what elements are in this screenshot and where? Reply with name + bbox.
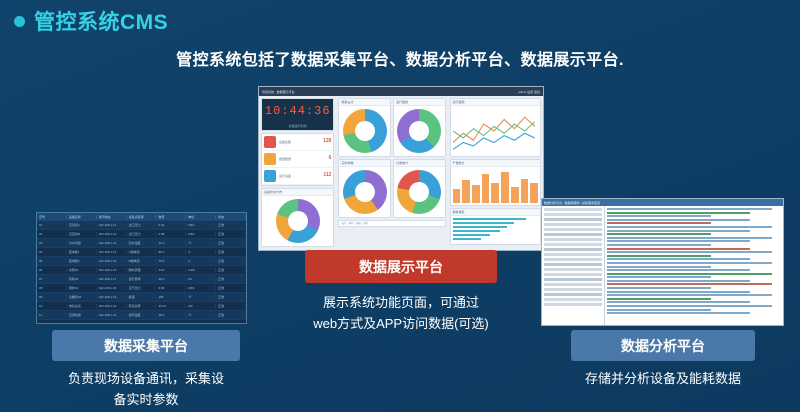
cell: A — [186, 259, 216, 263]
collect-caption-line2: 备实时参数 — [38, 389, 254, 410]
kpi-item: 设备总数 128 — [262, 134, 333, 151]
cell: 192.168.1.18 — [97, 286, 127, 290]
donut-row-2: 实时参数 分类统计 — [338, 159, 445, 220]
cell: 正常 — [216, 277, 246, 281]
donut-card-1: 设备状态分布 — [261, 188, 334, 247]
dashboard-titlebar-right: admin 设置 退出 — [518, 90, 540, 94]
table-row: 03 冷水机组 192.168.1.13 回水温度 12.4 ℃ 正常 — [37, 239, 246, 248]
cell: 01 — [37, 223, 67, 227]
cell: 正常 — [216, 286, 246, 290]
window-titlebar: 数据分析平台 - 数据库服务 / 采集服务配置 — [542, 199, 783, 206]
kpi-item: 运行设备 112 — [262, 168, 333, 185]
cell: 有功功率 — [127, 304, 157, 308]
cell: 空压机A — [67, 223, 97, 227]
cell: 正常 — [216, 268, 246, 272]
cell: 312.6 — [156, 304, 186, 308]
donut-card-3: 运行趋势 — [393, 98, 446, 157]
cell: 07 — [37, 277, 67, 281]
cell: B相电流 — [127, 259, 157, 263]
table-row: 09 注塑机03 192.168.1.19 模温 185 ℃ 正常 — [37, 293, 246, 302]
cell: 192.168.1.12 — [97, 232, 127, 236]
cell: 空压机B — [67, 232, 97, 236]
cell: 02 — [37, 232, 67, 236]
cell: ℃ — [186, 313, 216, 317]
column-header: 设备名称 — [67, 215, 97, 219]
cell: 192.168.1.17 — [97, 277, 127, 281]
cell: 出口压力 — [127, 223, 157, 227]
cell: 06 — [37, 268, 67, 272]
cell: 05 — [37, 259, 67, 263]
cell: 192.168.1.14 — [97, 250, 127, 254]
dashboard-screenshot: 管控系统 · 数据展示平台 admin 设置 退出 10:44:36 系统运行时… — [258, 86, 544, 251]
analyse-platform-label[interactable]: 数据分析平台 — [571, 330, 755, 361]
slide: 管控系统CMS 管控系统包括了数据采集平台、数据分析平台、数据展示平台. 管控系… — [0, 0, 800, 412]
cell: A相电流 — [127, 250, 157, 254]
kpi-value: 128 — [323, 138, 331, 146]
bar-chart — [451, 167, 540, 205]
table-row: 04 配电柜1 192.168.1.14 A相电流 86.2 A 正常 — [37, 248, 246, 257]
code-panel — [605, 206, 783, 326]
kpi-label: 设备总数 — [279, 140, 291, 145]
cell: MPa — [186, 232, 216, 236]
cell: 09 — [37, 295, 67, 299]
dashboard-body: 10:44:36 系统运行时间 设备总数 128 报警数量 6 — [259, 96, 543, 251]
cell: 空调机组 — [67, 313, 97, 317]
table-row: 07 风机02 192.168.1.17 运行频率 45.0 Hz 正常 — [37, 275, 246, 284]
cell: 192.168.1.13 — [97, 241, 127, 245]
donut-card-5: 分类统计 — [393, 159, 446, 218]
collect-caption-line1: 负责现场设备通讯，采集设 — [38, 368, 254, 389]
kpi-card: 设备总数 128 报警数量 6 运行设备 112 — [261, 133, 334, 186]
kpi-label: 运行设备 — [279, 174, 291, 179]
line-chart — [451, 106, 540, 156]
donut-chart — [276, 199, 320, 243]
donut-row: 能耗占比 运行趋势 — [338, 98, 445, 159]
dashboard-col-middle: 能耗占比 运行趋势 实时参数 分类统计 — [336, 96, 447, 251]
cell: 192.168.1.19 — [97, 295, 127, 299]
cell: 0.58 — [156, 232, 186, 236]
bar-chart-card: 产量统计 — [450, 159, 541, 206]
cell: A — [186, 250, 216, 254]
cell: 03 — [37, 241, 67, 245]
clock-card: 10:44:36 系统运行时间 — [261, 98, 334, 131]
analyse-caption-line1: 存储并分析设备及能耗数据 — [550, 368, 776, 389]
cell: 模温 — [127, 295, 157, 299]
cell: ℃ — [186, 241, 216, 245]
cell: Hz — [186, 277, 216, 281]
cell: 运行频率 — [127, 277, 157, 281]
display-platform-caption: 展示系统功能页面，可通过 web方式及APP访问数据(可选) — [286, 292, 516, 335]
cell: MPa — [186, 286, 216, 290]
collect-platform-label[interactable]: 数据采集平台 — [52, 330, 240, 361]
cell: 12.4 — [156, 241, 186, 245]
cell: 瞬时流量 — [127, 268, 157, 272]
page-title: 管控系统CMS — [14, 6, 168, 36]
cell: 86.2 — [156, 250, 186, 254]
legend-card: 运行 · 停机 · 故障 · 待机 — [338, 220, 445, 227]
kpi-item: 报警数量 6 — [262, 151, 333, 168]
window-title: 数据分析平台 - 数据库服务 / 采集服务配置 — [544, 201, 600, 205]
donut-chart — [343, 109, 387, 153]
column-header: 状态 — [216, 215, 246, 219]
table-row: 05 配电柜2 192.168.1.15 B相电流 79.5 A 正常 — [37, 257, 246, 266]
cell: 蒸汽压力 — [127, 286, 157, 290]
collect-platform-caption: 负责现场设备通讯，采集设 备实时参数 — [38, 368, 254, 411]
cell: 18.6 — [156, 313, 186, 317]
chart-legend: 运行 · 停机 · 故障 · 待机 — [339, 221, 444, 226]
card-title: 能耗排名 — [451, 209, 540, 216]
device-icon — [264, 170, 276, 182]
cell: 冷水机组 — [67, 241, 97, 245]
kpi-label: 报警数量 — [279, 157, 291, 162]
cell: 水泵01 — [67, 268, 97, 272]
donut-card-4: 实时参数 — [338, 159, 391, 218]
cell: 正常 — [216, 295, 246, 299]
data-collection-screenshot: 序号 设备名称 通讯地址 采集点名称 数值 单位 状态 01 空压机A 192.… — [36, 212, 247, 324]
warning-icon — [264, 153, 276, 165]
table-row: 01 空压机A 192.168.1.11 出口压力 0.62 MPa 正常 — [37, 221, 246, 230]
dashboard-titlebar: 管控系统 · 数据展示平台 admin 设置 退出 — [259, 87, 543, 96]
cell: 192.168.1.20 — [97, 304, 127, 308]
cell: 45.0 — [156, 277, 186, 281]
hbar-chart — [451, 216, 540, 244]
dashboard-titlebar-left: 管控系统 · 数据展示平台 — [262, 90, 295, 94]
column-header: 通讯地址 — [97, 215, 127, 219]
cell: 192.168.1.21 — [97, 313, 127, 317]
cell: 24.8 — [156, 268, 186, 272]
card-title: 分类统计 — [394, 160, 445, 167]
cell: 08 — [37, 286, 67, 290]
cell: 配电柜1 — [67, 250, 97, 254]
cell: 0.62 — [156, 223, 186, 227]
column-header: 采集点名称 — [127, 215, 157, 219]
column-header: 单位 — [186, 215, 216, 219]
display-platform-label[interactable]: 数据展示平台 — [305, 250, 497, 283]
cell: 正常 — [216, 259, 246, 263]
cell: 0.95 — [156, 286, 186, 290]
cell: 配电柜2 — [67, 259, 97, 263]
kpi-value: 6 — [329, 155, 332, 163]
table-row: 02 空压机B 192.168.1.12 出口压力 0.58 MPa 正常 — [37, 230, 246, 239]
cell: 正常 — [216, 241, 246, 245]
card-title: 设备状态分布 — [262, 189, 333, 196]
card-title: 产量统计 — [451, 160, 540, 167]
data-analysis-screenshot: 数据分析平台 - 数据库服务 / 采集服务配置 — [541, 198, 784, 326]
card-title: 能耗占比 — [339, 99, 390, 106]
donut-chart — [397, 170, 441, 214]
cell: 送风温度 — [127, 313, 157, 317]
cell: ℃ — [186, 295, 216, 299]
table-row: 06 水泵01 192.168.1.16 瞬时流量 24.8 m3/h 正常 — [37, 266, 246, 275]
cell: 正常 — [216, 304, 246, 308]
cell: 10 — [37, 304, 67, 308]
cell: 185 — [156, 295, 186, 299]
card-title: 实时参数 — [339, 160, 390, 167]
cell: 192.168.1.15 — [97, 259, 127, 263]
card-title: 运行趋势 — [451, 99, 540, 106]
analyse-platform-caption: 存储并分析设备及能耗数据 — [550, 368, 776, 389]
cell: 回水温度 — [127, 241, 157, 245]
dashboard-col-left: 10:44:36 系统运行时间 设备总数 128 报警数量 6 — [259, 96, 336, 251]
subtitle-text: 管控系统包括了数据采集平台、数据分析平台、数据展示平台. — [0, 46, 800, 70]
display-caption-line1: 展示系统功能页面，可通过 — [286, 292, 516, 313]
table-row: 10 电表总表 192.168.1.20 有功功率 312.6 kW 正常 — [37, 302, 246, 311]
cell: 锅炉01 — [67, 286, 97, 290]
cell: 正常 — [216, 223, 246, 227]
cell: MPa — [186, 223, 216, 227]
column-header: 序号 — [37, 215, 67, 219]
dashboard-col-right: 运行趋势 产量统计 — [448, 96, 543, 251]
cell: 79.5 — [156, 259, 186, 263]
donut-chart — [343, 170, 387, 214]
table-row: 08 锅炉01 192.168.1.18 蒸汽压力 0.95 MPa 正常 — [37, 284, 246, 293]
donut-card-2: 能耗占比 — [338, 98, 391, 157]
cell: 出口压力 — [127, 232, 157, 236]
cell: 正常 — [216, 250, 246, 254]
clock-value: 10:44:36 — [262, 99, 333, 124]
bullet-icon — [14, 16, 25, 27]
object-tree-panel — [542, 206, 605, 326]
cell: 风机02 — [67, 277, 97, 281]
table-row: 11 空调机组 192.168.1.21 送风温度 18.6 ℃ 正常 — [37, 311, 246, 320]
cell: 注塑机03 — [67, 295, 97, 299]
cell: 192.168.1.11 — [97, 223, 127, 227]
hbar-chart-card: 能耗排名 — [450, 208, 541, 245]
column-header: 数值 — [156, 215, 186, 219]
kpi-value: 112 — [323, 172, 331, 180]
cell: m3/h — [186, 268, 216, 272]
cell: 11 — [37, 313, 67, 317]
table-header: 序号 设备名称 通讯地址 采集点名称 数值 单位 状态 — [37, 213, 246, 221]
cell: kW — [186, 304, 216, 308]
cell: 04 — [37, 250, 67, 254]
display-caption-line2: web方式及APP访问数据(可选) — [286, 313, 516, 334]
clock-sublabel: 系统运行时间 — [289, 125, 307, 128]
cell: 正常 — [216, 232, 246, 236]
card-title: 运行趋势 — [394, 99, 445, 106]
window-body — [542, 206, 783, 326]
donut-chart — [397, 109, 441, 153]
page-title-text: 管控系统CMS — [34, 6, 168, 36]
line-chart-card: 运行趋势 — [450, 98, 541, 157]
cell: 电表总表 — [67, 304, 97, 308]
cell: 192.168.1.16 — [97, 268, 127, 272]
cell: 正常 — [216, 313, 246, 317]
alert-icon — [264, 136, 276, 148]
